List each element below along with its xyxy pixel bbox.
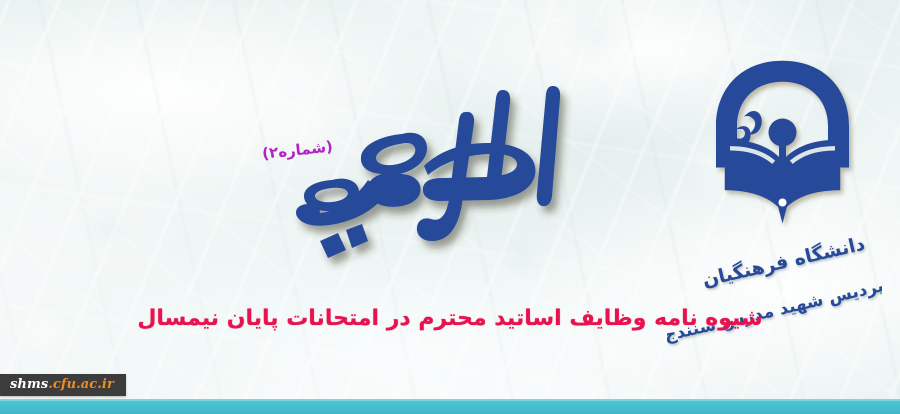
farhangian-university-logo: [695, 52, 870, 227]
issue-number-text: (شماره۲): [261, 137, 333, 162]
headline-calligraphy: [290, 78, 600, 308]
url-host: shms: [10, 377, 48, 392]
announcement-banner: دانشگاه فرهنگیان پردیس شهید مدرس سنندج: [0, 0, 900, 414]
subtitle-text: شیوه نامه وظایف اساتید محترم در امتحانات…: [0, 306, 900, 331]
website-url-badge[interactable]: shms.cfu.ac.ir: [0, 374, 126, 396]
bottom-bar-highlight: [0, 399, 900, 401]
issue-number-label: (شماره۲): [258, 127, 338, 169]
url-domain: .cfu.ac.ir: [48, 377, 114, 392]
bottom-accent-bar: [0, 399, 900, 414]
